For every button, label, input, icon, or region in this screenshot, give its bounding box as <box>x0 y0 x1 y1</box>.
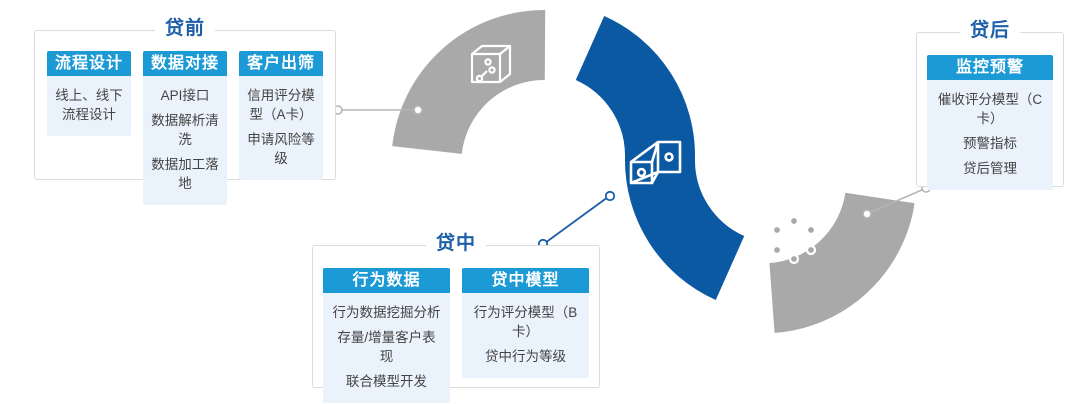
card-line: 行为数据挖掘分析 <box>331 300 442 325</box>
stage-panel-mid: 贷中 行为数据 行为数据挖掘分析 存量/增量客户表现 联合模型开发 贷中模型 行… <box>312 245 600 388</box>
card-xingwei-shuju[interactable]: 行为数据 行为数据挖掘分析 存量/增量客户表现 联合模型开发 <box>323 268 450 403</box>
card-line: 申请风险等级 <box>247 127 315 171</box>
card-line: 信用评分模 型（A卡） <box>247 83 315 127</box>
card-daizhong-moxing[interactable]: 贷中模型 行为评分模型（B卡） 贷中行为等级 <box>462 268 589 378</box>
card-header: 数据对接 <box>143 51 227 76</box>
infographic-stage: 贷前 流程设计 线上、线下 流程设计 数据对接 API接口 数据解析清洗 数据加… <box>0 0 1080 404</box>
panel-cards-post: 监控预警 催收评分模型（C卡） 预警指标 贷后管理 <box>917 33 1063 186</box>
card-body: 行为数据挖掘分析 存量/增量客户表现 联合模型开发 <box>323 293 450 403</box>
card-jiankong-yujing[interactable]: 监控预警 催收评分模型（C卡） 预警指标 贷后管理 <box>927 55 1053 190</box>
card-line: 贷后管理 <box>935 156 1045 181</box>
panel-cards-mid: 行为数据 行为数据挖掘分析 存量/增量客户表现 联合模型开发 贷中模型 行为评分… <box>313 246 599 387</box>
card-header: 行为数据 <box>323 268 450 293</box>
card-header: 客户出筛 <box>239 51 323 76</box>
card-line: API接口 <box>151 83 219 108</box>
card-body: 信用评分模 型（A卡） 申请风险等级 <box>239 76 323 180</box>
card-line: 预警指标 <box>935 131 1045 156</box>
card-body: 线上、线下 流程设计 <box>47 76 131 136</box>
card-kehu-chushai[interactable]: 客户出筛 信用评分模 型（A卡） 申请风险等级 <box>239 51 323 180</box>
stage-panel-post: 贷后 监控预警 催收评分模型（C卡） 预警指标 贷后管理 <box>916 32 1064 187</box>
card-header: 贷中模型 <box>462 268 589 293</box>
card-header: 监控预警 <box>927 55 1053 80</box>
card-body: 催收评分模型（C卡） 预警指标 贷后管理 <box>927 80 1053 190</box>
connector-pre <box>334 106 422 114</box>
connector-mid <box>539 192 614 248</box>
card-line: 贷中行为等级 <box>470 344 581 369</box>
connector-post <box>863 184 930 218</box>
card-line: 存量/增量客户表现 <box>331 325 442 369</box>
panel-cards-pre: 流程设计 线上、线下 流程设计 数据对接 API接口 数据解析清洗 数据加工落地… <box>35 31 335 179</box>
card-shuju-duijie[interactable]: 数据对接 API接口 数据解析清洗 数据加工落地 <box>143 51 227 205</box>
stage-panel-pre: 贷前 流程设计 线上、线下 流程设计 数据对接 API接口 数据解析清洗 数据加… <box>34 30 336 180</box>
card-line: 线上、线下 流程设计 <box>55 83 123 127</box>
card-header: 流程设计 <box>47 51 131 76</box>
card-line: 数据解析清洗 <box>151 108 219 152</box>
card-line: 联合模型开发 <box>331 369 442 394</box>
card-body: 行为评分模型（B卡） 贷中行为等级 <box>462 293 589 378</box>
card-line: 行为评分模型（B卡） <box>470 300 581 344</box>
card-line: 数据加工落地 <box>151 152 219 196</box>
card-line: 催收评分模型（C卡） <box>935 87 1045 131</box>
card-body: API接口 数据解析清洗 数据加工落地 <box>143 76 227 205</box>
card-liucheng-sheji[interactable]: 流程设计 线上、线下 流程设计 <box>47 51 131 136</box>
